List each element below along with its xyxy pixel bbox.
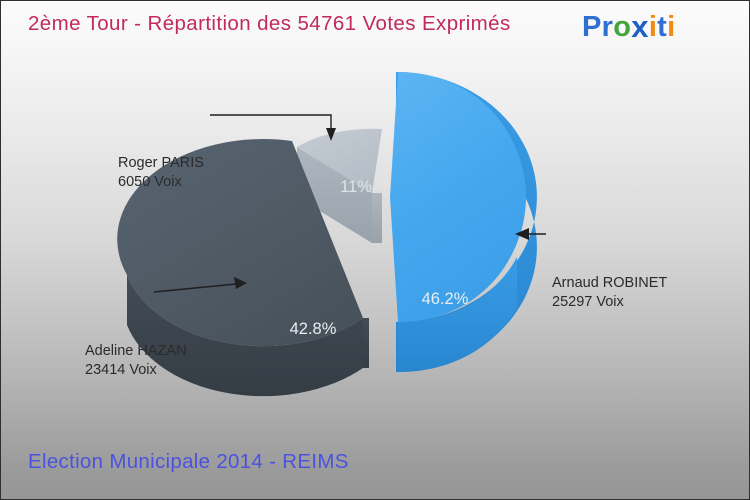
pie-slice-arnaud-robinet[interactable]: [390, 72, 537, 372]
logo-letter-x: x: [631, 11, 649, 42]
logo-letter-t: t: [657, 13, 667, 42]
pie-slice-adeline-hazan-side-edge: [363, 318, 369, 368]
proxiti-logo[interactable]: Proxiti: [582, 10, 676, 42]
callout-arnaud-robinet-name: Arnaud ROBINET: [552, 275, 667, 291]
pie-slice-roger-paris-side-right: [372, 193, 382, 243]
callout-arnaud-robinet: Arnaud ROBINET 25297 Voix: [552, 274, 667, 312]
callout-roger-paris-votes: 6050 Voix: [118, 173, 204, 192]
logo-letter-p: P: [582, 13, 602, 42]
logo-letter-r: r: [602, 13, 614, 42]
chart-subtitle: Election Municipale 2014 - REIMS: [28, 450, 349, 474]
callout-roger-paris-name: Roger PARIS: [118, 155, 204, 171]
pie-chart-area: 46.2% 42.8% 11% Roger PARIS 6050 Voix A: [1, 61, 750, 441]
slice-percent-adeline-hazan: 42.8%: [290, 320, 337, 338]
callout-roger-paris: Roger PARIS 6050 Voix: [118, 154, 204, 192]
callout-arnaud-robinet-votes: 25297 Voix: [552, 293, 667, 312]
slice-percent-arnaud-robinet: 46.2%: [422, 290, 469, 308]
logo-letter-i2: i: [667, 13, 675, 42]
callout-adeline-hazan-votes: 23414 Voix: [85, 361, 187, 380]
slice-percent-roger-paris: 11%: [340, 178, 372, 196]
pie-chart-svg: 46.2% 42.8% 11%: [1, 61, 750, 441]
logo-letter-o: o: [613, 13, 631, 42]
callout-adeline-hazan-name: Adeline HAZAN: [85, 343, 187, 359]
callout-adeline-hazan: Adeline HAZAN 23414 Voix: [85, 342, 187, 380]
page-title: 2ème Tour - Répartition des 54761 Votes …: [28, 12, 511, 36]
election-pie-chart-image: 2ème Tour - Répartition des 54761 Votes …: [0, 0, 750, 500]
logo-letter-i1: i: [649, 13, 657, 42]
callout-leader-line-roger-paris: [210, 115, 336, 141]
